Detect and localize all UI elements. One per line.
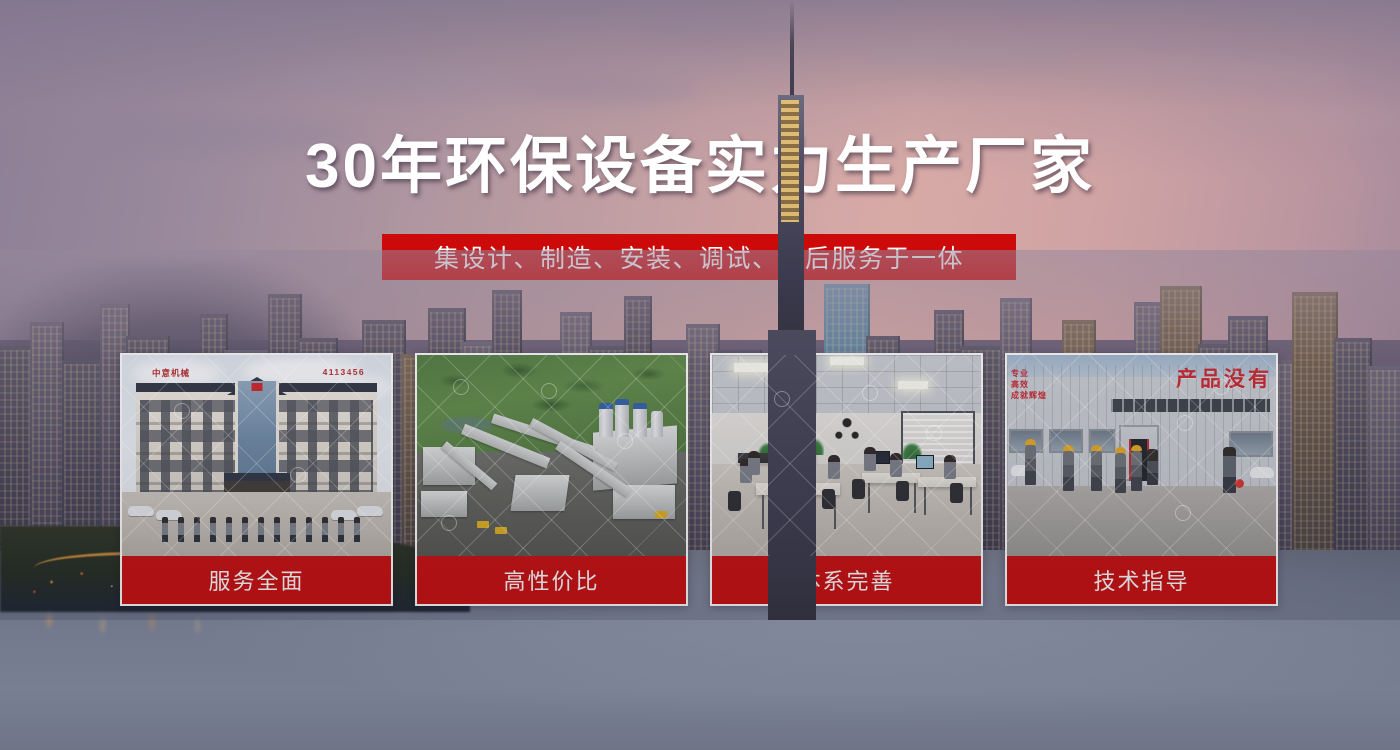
- card-photo-office-interior: [712, 355, 981, 556]
- card-caption: 体系完善: [712, 556, 981, 604]
- factory-wall-big-text: 产品没有: [1176, 363, 1272, 393]
- building-sign-text: 中意机械: [152, 367, 190, 379]
- water-light-reflections: [0, 606, 380, 654]
- feature-card[interactable]: 中意机械 4113456: [120, 353, 393, 606]
- card-caption: 服务全面: [122, 556, 391, 604]
- feature-card-row: 中意机械 4113456: [120, 353, 1278, 606]
- cloud-shape: [860, 42, 1080, 72]
- cloud-shape: [1210, 108, 1400, 134]
- building-phone-text: 4113456: [323, 367, 365, 377]
- cloud-shape: [1090, 60, 1350, 94]
- cloud-shape: [280, 62, 530, 102]
- tv-tower-lit-section: [781, 100, 799, 222]
- tv-tower-base: [768, 330, 816, 620]
- cloud-shape: [640, 18, 800, 40]
- page-title: 30年环保设备实力生产厂家: [0, 132, 1400, 201]
- card-photo-plant-aerial: [417, 355, 686, 556]
- feature-card[interactable]: 高性价比: [415, 353, 688, 606]
- cloud-shape: [520, 78, 700, 104]
- feature-card[interactable]: 产品没有 专业 高效 成就辉煌: [1005, 353, 1278, 606]
- card-caption: 高性价比: [417, 556, 686, 604]
- card-caption: 技术指导: [1007, 556, 1276, 604]
- wall-slogan-3: 成就辉煌: [1011, 391, 1047, 400]
- subtitle-banner: 集设计、制造、安装、调试、售后服务于一体: [382, 234, 1016, 280]
- card-photo-headquarters: 中意机械 4113456: [122, 355, 391, 556]
- hero-banner: 30年环保设备实力生产厂家 集设计、制造、安装、调试、售后服务于一体: [0, 0, 1400, 750]
- subtitle-text: 集设计、制造、安装、调试、售后服务于一体: [434, 239, 964, 275]
- wall-slogan-1: 专业: [1011, 369, 1029, 378]
- factory-wall-small-text: 专业 高效 成就辉煌: [1011, 369, 1047, 401]
- feature-card[interactable]: 体系完善: [710, 353, 983, 606]
- tv-tower-spire: [790, 0, 794, 108]
- wall-slogan-2: 高效: [1011, 380, 1029, 389]
- card-photo-worker-training: 产品没有 专业 高效 成就辉煌: [1007, 355, 1276, 556]
